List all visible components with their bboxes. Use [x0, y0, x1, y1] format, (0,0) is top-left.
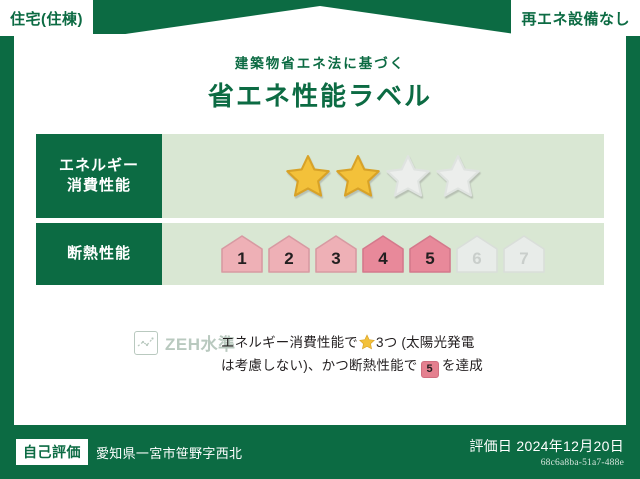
footer-right: 評価日 2024年12月20日 68c6a8ba-51a7-488e — [469, 436, 640, 468]
evaluation-id: 68c6a8ba-51a7-488e — [469, 458, 624, 468]
star-icon-empty — [385, 153, 431, 199]
insulation-level-scale: 1234567 — [220, 233, 546, 275]
row-insulation-content: 1234567 — [162, 223, 604, 285]
desc-part2: 3つ (太陽光発電 — [376, 335, 475, 350]
footer-left: 自己評価 愛知県一宮市笹野字西北 — [0, 439, 469, 465]
performance-rows: エネルギー 消費性能 断熱性能 1234567 — [36, 134, 604, 285]
star-icon — [359, 334, 375, 350]
footer: 自己評価 愛知県一宮市笹野字西北 評価日 2024年12月20日 68c6a8b… — [0, 425, 640, 479]
zeh-badge: ZEH水準 — [36, 330, 221, 355]
row-energy-label-line2: 消費性能 — [67, 176, 131, 196]
self-evaluation-badge: 自己評価 — [16, 439, 88, 465]
title-main: 省エネ性能ラベル — [0, 76, 640, 113]
insulation-level-value: 6 — [472, 249, 481, 275]
inline-level-badge: 5 — [421, 361, 439, 378]
tag-renewable-energy-label: 再エネ設備なし — [521, 8, 630, 29]
evaluation-date: 評価日 2024年12月20日 — [469, 436, 624, 456]
insulation-level-value: 4 — [378, 249, 387, 275]
title-subtitle: 建築物省エネ法に基づく — [0, 52, 640, 72]
row-energy-performance: エネルギー 消費性能 — [36, 134, 604, 218]
zeh-chart-icon — [134, 331, 158, 355]
insulation-level-1: 1 — [220, 233, 264, 275]
desc-part3: は考慮しない)、かつ断熱性能で — [221, 358, 418, 373]
insulation-level-4: 4 — [361, 233, 405, 275]
insulation-level-value: 2 — [284, 249, 293, 275]
row-energy-content — [162, 134, 604, 218]
insulation-level-3: 3 — [314, 233, 358, 275]
insulation-level-value: 3 — [331, 249, 340, 275]
star-icon-filled — [285, 153, 331, 199]
insulation-level-5: 5 — [408, 233, 452, 275]
insulation-level-value: 7 — [519, 249, 528, 275]
star-rating — [285, 153, 481, 199]
star-icon-empty — [435, 153, 481, 199]
achievement-description: エネルギー消費性能で 3つ (太陽光発電 は考慮しない)、かつ断熱性能で5を達成 — [221, 330, 604, 378]
insulation-level-7: 7 — [502, 233, 546, 275]
tag-building-type-label: 住宅(住棟) — [10, 8, 83, 29]
desc-part1: エネルギー消費性能で — [221, 335, 358, 350]
insulation-level-value: 1 — [237, 249, 246, 275]
row-insulation-label: 断熱性能 — [36, 223, 162, 285]
desc-part4: を達成 — [442, 358, 483, 373]
star-icon-filled — [335, 153, 381, 199]
row-insulation-label-text: 断熱性能 — [67, 244, 131, 264]
tag-building-type: 住宅(住棟) — [0, 0, 93, 36]
tag-renewable-energy: 再エネ設備なし — [511, 0, 640, 36]
energy-label-card: 住宅(住棟) 再エネ設備なし 建築物省エネ法に基づく 省エネ性能ラベル Rent… — [0, 0, 640, 479]
insulation-level-2: 2 — [267, 233, 311, 275]
zeh-description-block: ZEH水準 エネルギー消費性能で 3つ (太陽光発電 は考慮しない)、かつ断熱性… — [36, 330, 604, 378]
property-address: 愛知県一宮市笹野字西北 — [96, 443, 242, 462]
title-block: 建築物省エネ法に基づく 省エネ性能ラベル — [0, 52, 640, 113]
row-energy-label-line1: エネルギー — [59, 156, 139, 176]
insulation-level-6: 6 — [455, 233, 499, 275]
row-insulation-performance: 断熱性能 1234567 — [36, 223, 604, 285]
insulation-level-value: 5 — [425, 249, 434, 275]
row-energy-label: エネルギー 消費性能 — [36, 134, 162, 218]
